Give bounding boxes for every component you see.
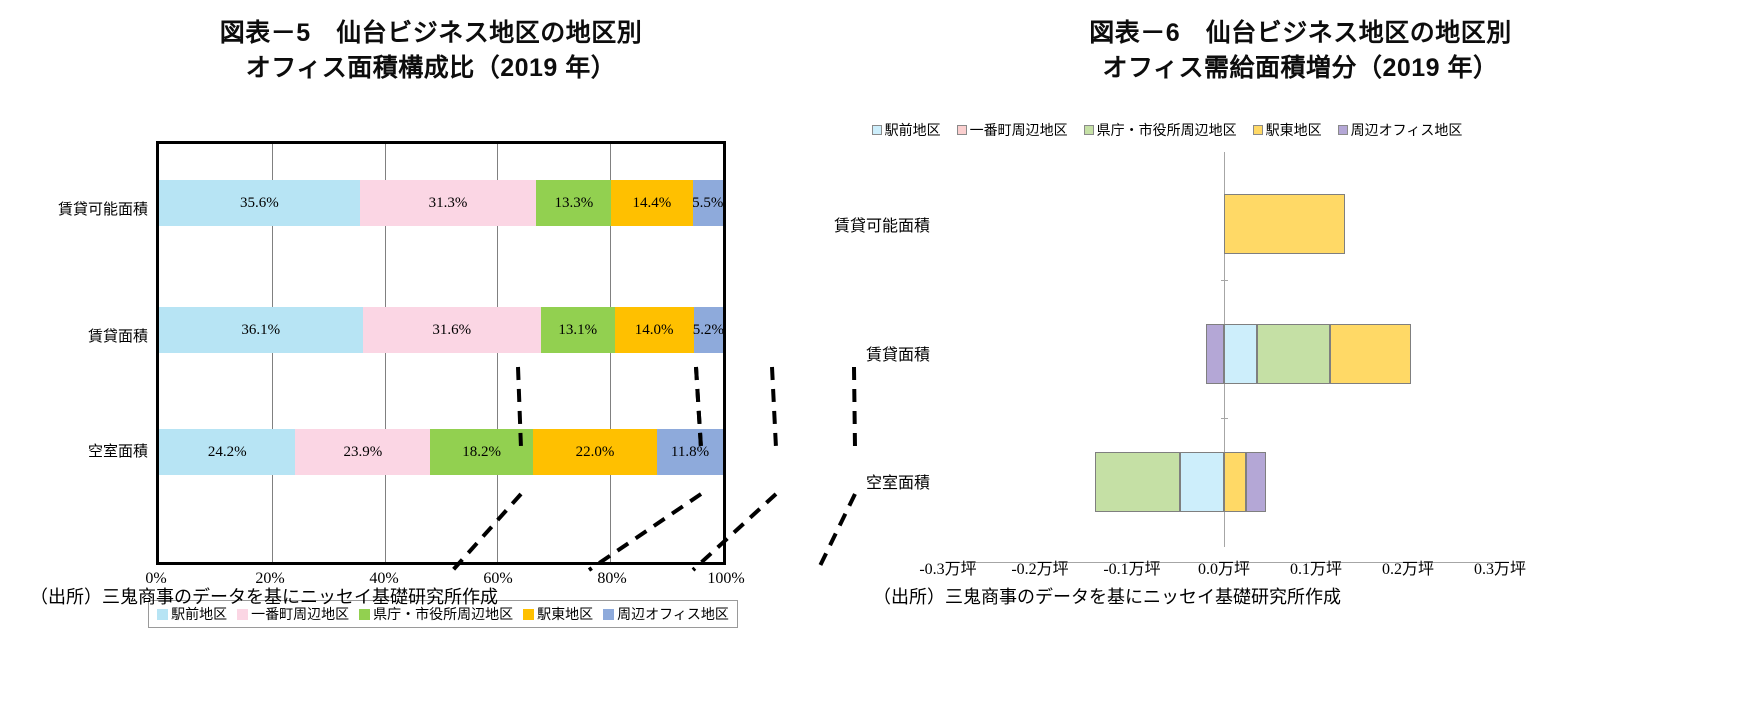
legend-label: 一番町周辺地区 bbox=[970, 120, 1068, 140]
legend-item-4: 周辺オフィス地区 bbox=[603, 604, 729, 624]
legend-swatch-icon bbox=[359, 609, 370, 620]
legend-swatch-icon bbox=[957, 125, 967, 135]
bar-segment bbox=[1330, 324, 1411, 384]
bar-segment: 18.2% bbox=[430, 429, 533, 475]
bar-segment bbox=[1224, 324, 1257, 384]
bar-segment: 31.3% bbox=[360, 180, 537, 226]
figure-6-title-line1: 図表－6 仙台ビジネス地区の地区別 bbox=[862, 16, 1739, 51]
legend-swatch-icon bbox=[523, 609, 534, 620]
figure-6-category-label-0: 賃貸可能面積 bbox=[770, 212, 930, 236]
axis-tick bbox=[1221, 280, 1228, 281]
bar-segment: 5.2% bbox=[694, 307, 723, 353]
legend-label: 周辺オフィス地区 bbox=[1351, 120, 1463, 140]
legend-item-3: 駅東地区 bbox=[1253, 120, 1322, 140]
legend-swatch-icon bbox=[1084, 125, 1094, 135]
figure-5-category-label-1: 賃貸面積 bbox=[30, 325, 148, 346]
legend-swatch-icon bbox=[237, 609, 248, 620]
table-row: 24.2% 23.9% 18.2% 22.0% 11.8% bbox=[159, 429, 723, 475]
bar-segment bbox=[1206, 324, 1224, 384]
bar-segment bbox=[1257, 324, 1330, 384]
bar-segment: 13.1% bbox=[541, 307, 615, 353]
figure-6-category-label-1: 賃貸面積 bbox=[770, 341, 930, 365]
legend-item-4: 周辺オフィス地区 bbox=[1338, 120, 1463, 140]
bar-segment: 22.0% bbox=[533, 429, 657, 475]
legend-label: 県庁・市役所周辺地区 bbox=[1097, 120, 1237, 140]
figure-6-xtick-2: -0.1万坪 bbox=[1087, 555, 1177, 579]
legend-label: 駅東地区 bbox=[537, 604, 593, 624]
bar-segment: 36.1% bbox=[159, 307, 363, 353]
figure-6-title: 図表－6 仙台ビジネス地区の地区別 オフィス需給面積増分（2019 年） bbox=[862, 16, 1739, 85]
figure-6-xtick-3: 0.0万坪 bbox=[1179, 555, 1269, 579]
figure-6-xtick-6: 0.3万坪 bbox=[1455, 555, 1545, 579]
bar-segment: 14.0% bbox=[615, 307, 694, 353]
figure-page: 図表－5 仙台ビジネス地区の地区別 オフィス面積構成比（2019 年） 賃貸可能… bbox=[0, 0, 1739, 708]
bar-segment: 14.4% bbox=[611, 180, 692, 226]
bar-segment: 31.6% bbox=[363, 307, 541, 353]
table-row bbox=[948, 194, 1500, 254]
figure-5-title: 図表－5 仙台ビジネス地区の地区別 オフィス面積構成比（2019 年） bbox=[0, 16, 862, 85]
table-row bbox=[948, 324, 1500, 384]
table-row: 35.6% 31.3% 13.3% 14.4% 5.5% bbox=[159, 180, 723, 226]
bar-segment: 23.9% bbox=[295, 429, 430, 475]
bar-segment: 5.5% bbox=[693, 180, 723, 226]
legend-item-3: 駅東地区 bbox=[523, 604, 593, 624]
legend-swatch-icon bbox=[872, 125, 882, 135]
figure-6-legend: 駅前地区 一番町周辺地区 県庁・市役所周辺地区 駅東地区 周辺オフィス地区 bbox=[812, 118, 1522, 142]
bar-segment bbox=[1224, 194, 1345, 254]
bar-segment: 35.6% bbox=[159, 180, 360, 226]
figure-6-source-note: （出所）三鬼商事のデータを基にニッセイ基礎研究所作成 bbox=[873, 583, 1341, 609]
legend-label: 周辺オフィス地区 bbox=[617, 604, 729, 624]
legend-item-2: 県庁・市役所周辺地区 bbox=[1084, 120, 1237, 140]
figure-5-plot-area: 35.6% 31.3% 13.3% 14.4% 5.5% 36.1% 31.6%… bbox=[156, 141, 726, 565]
legend-swatch-icon bbox=[157, 609, 168, 620]
table-row: 36.1% 31.6% 13.1% 14.0% 5.2% bbox=[159, 307, 723, 353]
figure-6-plot-area bbox=[948, 152, 1500, 547]
bar-segment bbox=[1246, 452, 1266, 512]
legend-item-0: 駅前地区 bbox=[872, 120, 941, 140]
figure-5-category-label-2: 空室面積 bbox=[30, 440, 148, 461]
legend-label: 駅東地区 bbox=[1266, 120, 1322, 140]
figure-5-source-note: （出所）三鬼商事のデータを基にニッセイ基礎研究所作成 bbox=[30, 583, 498, 609]
legend-swatch-icon bbox=[1338, 125, 1348, 135]
legend-swatch-icon bbox=[1253, 125, 1263, 135]
figure-6-xtick-4: 0.1万坪 bbox=[1271, 555, 1361, 579]
figure-6-xtick-5: 0.2万坪 bbox=[1363, 555, 1453, 579]
figure-6-xtick-1: -0.2万坪 bbox=[995, 555, 1085, 579]
bar-segment bbox=[1180, 452, 1224, 512]
bar-segment bbox=[1224, 452, 1246, 512]
figure-5-title-line1: 図表－5 仙台ビジネス地区の地区別 bbox=[0, 16, 862, 51]
figure-5-panel: 図表－5 仙台ビジネス地区の地区別 オフィス面積構成比（2019 年） 賃貸可能… bbox=[0, 0, 862, 708]
legend-swatch-icon bbox=[603, 609, 614, 620]
bar-segment: 11.8% bbox=[657, 429, 723, 475]
legend-label: 駅前地区 bbox=[885, 120, 941, 140]
bar-segment bbox=[1095, 452, 1179, 512]
figure-5-xtick-4: 80% bbox=[582, 570, 642, 588]
bar-segment: 24.2% bbox=[159, 429, 295, 475]
figure-5-xtick-5: 100% bbox=[696, 570, 756, 588]
figure-5-title-line2: オフィス面積構成比（2019 年） bbox=[0, 51, 862, 86]
legend-item-1: 一番町周辺地区 bbox=[957, 120, 1068, 140]
figure-6-category-label-2: 空室面積 bbox=[770, 469, 930, 493]
figure-5-category-label-0: 賃貸可能面積 bbox=[30, 198, 148, 219]
figure-6-title-line2: オフィス需給面積増分（2019 年） bbox=[862, 51, 1739, 86]
axis-tick bbox=[1221, 418, 1228, 419]
bar-segment: 13.3% bbox=[536, 180, 611, 226]
figure-6-xtick-0: -0.3万坪 bbox=[903, 555, 993, 579]
table-row bbox=[948, 452, 1500, 512]
